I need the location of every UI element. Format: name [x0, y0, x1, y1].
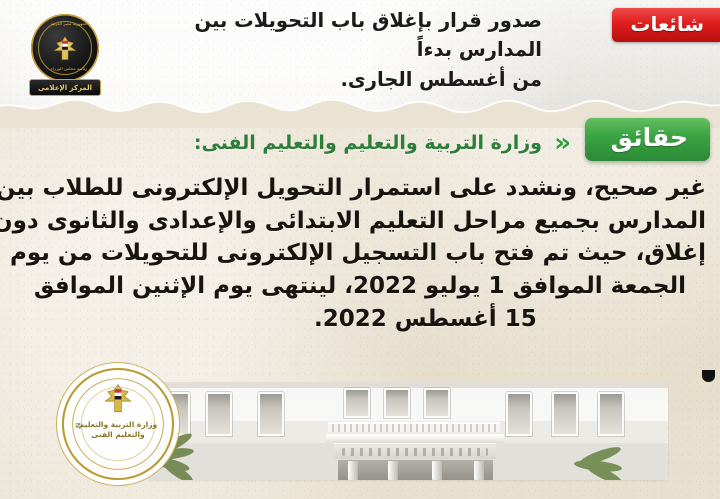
- building-window: [506, 392, 532, 436]
- seal-arc-top-text: جمهورية مصر العربية: [31, 21, 107, 26]
- rumor-section: جمهورية مصر العربية رئاسة مجلس الوزراء ا…: [0, 0, 720, 96]
- fact-line-3: إغلاق، حيث تم فتح باب التسجيل الإلكترونى…: [14, 237, 706, 270]
- building-column: [432, 461, 442, 480]
- ministry-building-photo: [148, 382, 668, 480]
- building-cornice: [326, 434, 504, 443]
- fact-line-5: 15 أغسطس 2022.: [14, 303, 706, 336]
- fact-body-text: غير صحيح، ونشدد على استمرار التحويل الإل…: [14, 172, 706, 335]
- building-window: [384, 388, 410, 418]
- building-window: [344, 388, 370, 418]
- building-window: [424, 388, 450, 418]
- fact-source-heading: وزارة التربية والتعليم والتعليم الفنى:: [162, 130, 542, 157]
- cabinet-media-center-seal: جمهورية مصر العربية رئاسة مجلس الوزراء ا…: [27, 14, 103, 96]
- seal-ring: جمهورية مصر العربية رئاسة مجلس الوزراء: [31, 14, 99, 82]
- building-frieze-inscription: [334, 443, 496, 459]
- seal-banner-text: المركز الإعلامى: [29, 79, 101, 96]
- infographic-poster: جمهورية مصر العربية رئاسة مجلس الوزراء ا…: [0, 0, 720, 499]
- moe-center-text: وزارة التربية والتعليم والتعليم الفنى: [64, 420, 172, 440]
- building-window: [598, 392, 624, 436]
- building-column: [388, 461, 398, 480]
- building-window: [258, 392, 284, 436]
- seal-arc-bottom-text: رئاسة مجلس الوزراء: [31, 66, 107, 71]
- fact-line-2: المدارس بجميع مراحل التعليم الابتدائى وا…: [14, 205, 706, 238]
- rumor-badge: شائعات: [612, 8, 720, 42]
- building-balustrade: [328, 422, 500, 434]
- building-column: [474, 461, 484, 480]
- decorative-corner-dot: [702, 370, 715, 382]
- rumor-text-block: صدور قرار بإغلاق باب التحويلات بين المدا…: [142, 6, 542, 94]
- rumor-line-2: من أغسطس الجارى.: [341, 68, 543, 91]
- building-window: [552, 392, 578, 436]
- palm-tree-icon-right: [560, 434, 640, 480]
- building-column: [348, 461, 358, 480]
- rumor-line-1: صدور قرار بإغلاق باب التحويلات بين المدا…: [195, 9, 542, 61]
- building-portico-shadow: [338, 460, 493, 480]
- chevron-double-left-icon-fact: «: [554, 128, 568, 158]
- moe-logo: MINISTRY OF EDUCATION AND TECHNICAL EDUC…: [62, 368, 174, 480]
- fact-line-4: الجمعة الموافق 1 يوليو 2022، لينتهى يوم …: [14, 270, 706, 303]
- fact-line-1: غير صحيح، ونشدد على استمرار التحويل الإل…: [14, 172, 706, 205]
- fact-badge: حقائق: [585, 118, 710, 161]
- eagle-of-saladin-icon: [50, 34, 80, 64]
